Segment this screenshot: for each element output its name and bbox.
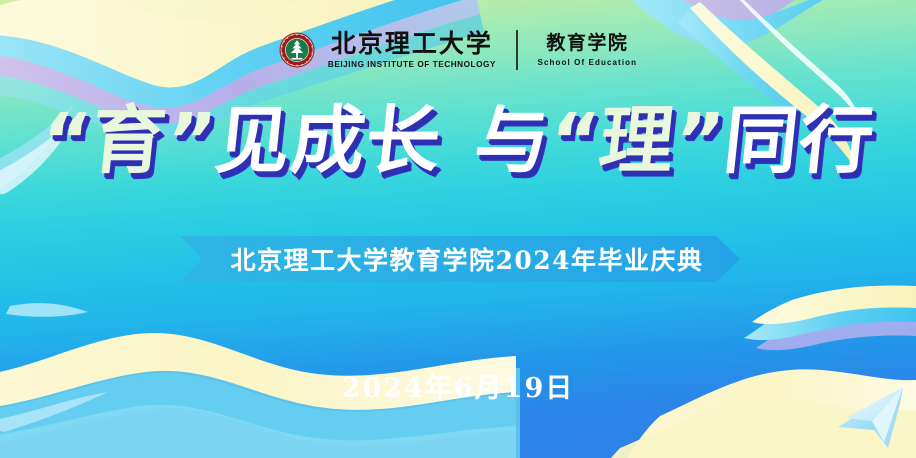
event-banner: 北京理工大学教育学院2024年毕业庆典 — [180, 236, 740, 282]
graduation-ceremony-poster: 北京理工大学 BEIJING INSTITUTE OF TECHNOLOGY 教… — [0, 0, 916, 458]
hero-quote-open-2: “ — [545, 98, 604, 184]
university-name-block: 北京理工大学 BEIJING INSTITUTE OF TECHNOLOGY — [328, 31, 496, 70]
hero-quote-close-1: ” — [162, 98, 221, 184]
school-name-cn: 教育学院 — [546, 33, 628, 53]
hero-char-li: 理 — [595, 98, 679, 184]
hero-rest-2: 同行 — [720, 98, 879, 184]
event-banner-text: 北京理工大学教育学院2024年毕业庆典 — [180, 236, 740, 282]
hero-lead-2: 与 — [470, 98, 554, 184]
lockup-divider — [516, 30, 518, 70]
institution-lockup: 北京理工大学 BEIJING INSTITUTE OF TECHNOLOGY 教… — [0, 30, 916, 70]
university-name-en: BEIJING INSTITUTE OF TECHNOLOGY — [328, 60, 496, 69]
hero-char-yu: 育 — [87, 98, 171, 184]
hero-rest-1: 见成长 — [211, 98, 445, 184]
event-date: 2024年6月19日 — [0, 366, 916, 405]
university-name-cn: 北京理工大学 — [331, 31, 493, 58]
bit-university-seal-icon — [279, 32, 315, 68]
school-name-block: 教育学院 School Of Education — [538, 33, 638, 66]
school-name-en: School Of Education — [538, 58, 638, 67]
hero-title: “育”见成长与“理”同行 — [0, 104, 916, 178]
